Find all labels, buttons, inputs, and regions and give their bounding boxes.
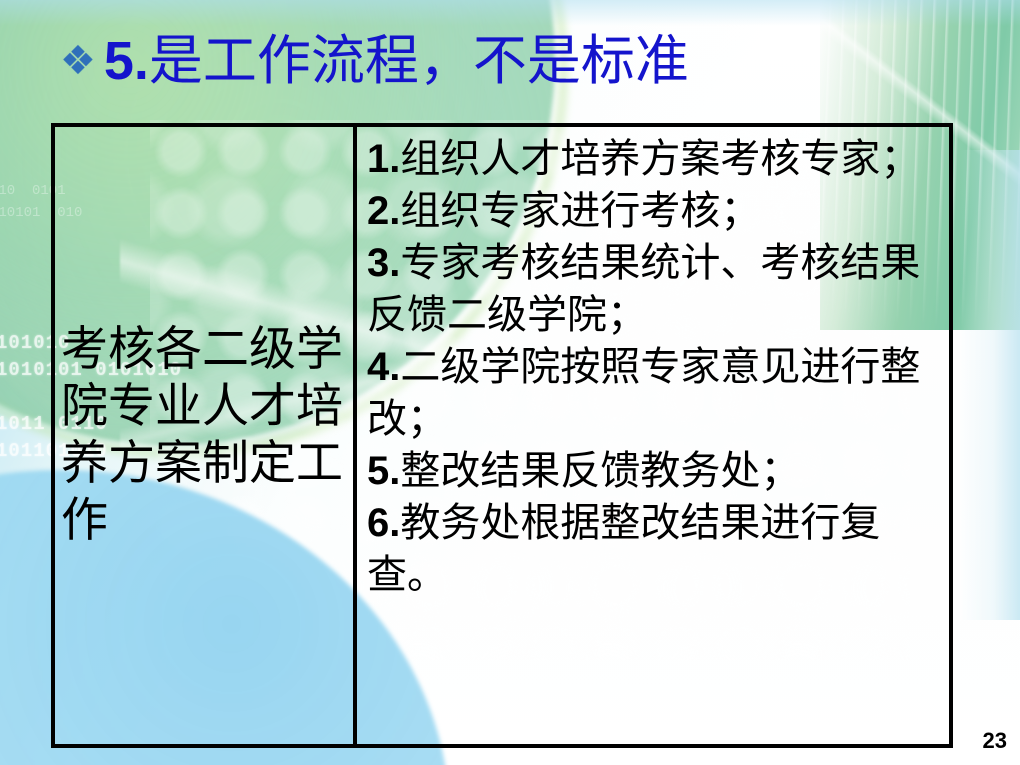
task-name-text: 考核各二级学院专业人才培养方案制定工作 xyxy=(61,322,347,550)
list-item-label: 整改结果反馈教务处； xyxy=(400,448,800,493)
list-item: 5.整改结果反馈教务处； xyxy=(367,445,941,497)
list-item-label: 专家考核结果统计、考核结果反馈二级学院； xyxy=(367,240,920,337)
list-item-label: 二级学院按照专家意见进行整改； xyxy=(367,344,920,441)
list-item: 3.专家考核结果统计、考核结果反馈二级学院； xyxy=(367,237,941,341)
list-item-label: 组织人才培养方案考核专家； xyxy=(400,136,920,181)
slide-title: ❖ 5. 是工作流程，不是标准 xyxy=(60,34,689,88)
slide-canvas: 101010 1010101 0101010 1011 0110 1011010… xyxy=(0,0,1020,765)
workflow-table: 考核各二级学院专业人才培养方案制定工作 1.组织人才培养方案考核专家； 2.组织… xyxy=(51,123,953,748)
list-item-index: 1. xyxy=(367,137,400,181)
top-fade-decoration xyxy=(0,0,1020,26)
list-item-index: 2. xyxy=(367,189,400,233)
table-cell-task-name: 考核各二级学院专业人才培养方案制定工作 xyxy=(55,127,357,744)
list-item: 4.二级学院按照专家意见进行整改； xyxy=(367,341,941,445)
list-item: 6.教务处根据整改结果进行复查。 xyxy=(367,497,941,601)
list-item-label: 教务处根据整改结果进行复查。 xyxy=(367,500,880,597)
list-item-label: 组织专家进行考核； xyxy=(400,188,760,233)
list-item-index: 6. xyxy=(367,501,400,545)
list-item: 2.组织专家进行考核； xyxy=(367,185,941,237)
title-number: 5. xyxy=(104,34,149,88)
diamond-bullet-icon: ❖ xyxy=(60,41,96,81)
right-edge-glow-decoration xyxy=(960,150,1020,620)
list-item: 1.组织人才培养方案考核专家； xyxy=(367,133,941,185)
list-item-index: 3. xyxy=(367,241,400,285)
table-cell-steps: 1.组织人才培养方案考核专家； 2.组织专家进行考核； 3.专家考核结果统计、考… xyxy=(357,127,949,744)
page-number: 23 xyxy=(983,730,1007,752)
list-item-index: 5. xyxy=(367,449,400,493)
title-label: 是工作流程，不是标准 xyxy=(149,34,689,88)
list-item-index: 4. xyxy=(367,345,400,389)
